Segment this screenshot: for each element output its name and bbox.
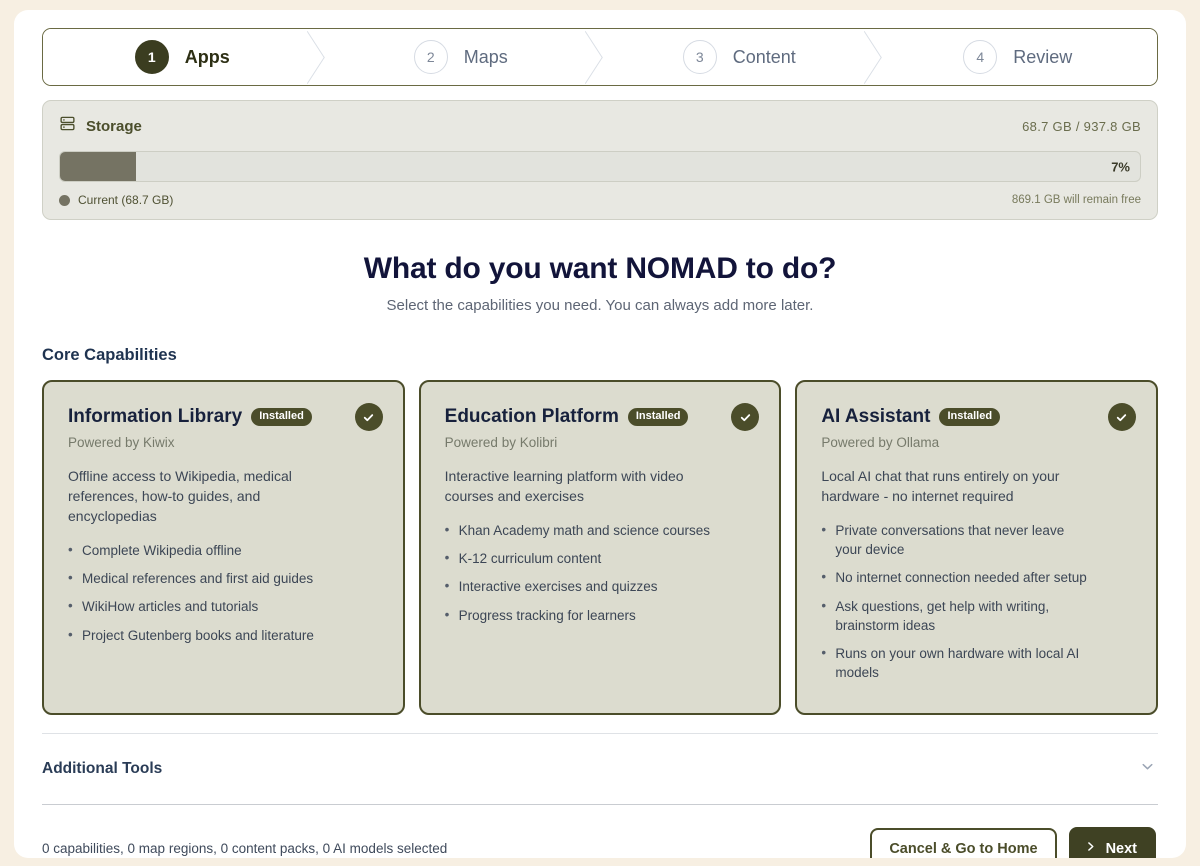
list-item: Complete Wikipedia offline bbox=[68, 541, 340, 560]
step-label: Content bbox=[733, 47, 796, 68]
section-title-core-capabilities: Core Capabilities bbox=[42, 346, 1158, 365]
step-review[interactable]: 4 Review bbox=[879, 29, 1158, 85]
card-powered-by: Powered by Kolibri bbox=[445, 435, 758, 450]
page-title: What do you want NOMAD to do? bbox=[42, 252, 1158, 286]
card-header: AI Assistant Installed bbox=[821, 406, 1134, 428]
legend-current-label: Current (68.7 GB) bbox=[78, 193, 173, 207]
storage-label: Storage bbox=[86, 118, 142, 135]
list-item: Runs on your own hardware with local AI … bbox=[821, 644, 1093, 682]
cancel-button[interactable]: Cancel & Go to Home bbox=[870, 828, 1056, 858]
step-number: 3 bbox=[683, 40, 717, 74]
selected-check-icon[interactable] bbox=[355, 403, 383, 431]
storage-header: Storage 68.7 GB / 937.8 GB bbox=[59, 115, 1141, 137]
storage-legend: Current (68.7 GB) 869.1 GB will remain f… bbox=[59, 193, 1141, 207]
list-item: Progress tracking for learners bbox=[445, 606, 717, 625]
card-feature-list: Complete Wikipedia offline Medical refer… bbox=[68, 541, 381, 645]
list-item: Khan Academy math and science courses bbox=[445, 521, 717, 540]
status-badge: Installed bbox=[628, 408, 689, 426]
step-number: 4 bbox=[963, 40, 997, 74]
list-item: Interactive exercises and quizzes bbox=[445, 577, 717, 596]
card-header: Information Library Installed bbox=[68, 406, 381, 428]
card-description: Interactive learning platform with video… bbox=[445, 466, 725, 506]
storage-progress-fill bbox=[60, 152, 136, 181]
card-powered-by: Powered by Ollama bbox=[821, 435, 1134, 450]
step-number: 2 bbox=[414, 40, 448, 74]
card-header: Education Platform Installed bbox=[445, 406, 758, 428]
capability-card-grid: Information Library Installed Powered by… bbox=[42, 380, 1158, 715]
storage-percent-label: 7% bbox=[1111, 159, 1130, 174]
step-label: Review bbox=[1013, 47, 1072, 68]
additional-tools-label: Additional Tools bbox=[42, 760, 162, 778]
status-badge: Installed bbox=[939, 408, 1000, 426]
step-number: 1 bbox=[135, 40, 169, 74]
additional-tools-accordion[interactable]: Additional Tools bbox=[42, 733, 1158, 804]
wizard-footer: 0 capabilities, 0 map regions, 0 content… bbox=[42, 804, 1158, 858]
step-apps[interactable]: 1 Apps bbox=[43, 29, 322, 85]
card-powered-by: Powered by Kiwix bbox=[68, 435, 381, 450]
card-title: Education Platform bbox=[445, 406, 619, 428]
selection-status: 0 capabilities, 0 map regions, 0 content… bbox=[42, 841, 447, 856]
wizard-stepper: 1 Apps 2 Maps 3 Content 4 Review bbox=[42, 28, 1158, 86]
step-maps[interactable]: 2 Maps bbox=[322, 29, 601, 85]
list-item: Ask questions, get help with writing, br… bbox=[821, 597, 1093, 635]
page-subtitle: Select the capabilities you need. You ca… bbox=[42, 297, 1158, 314]
wizard-window: 1 Apps 2 Maps 3 Content 4 Review bbox=[14, 10, 1186, 858]
next-button-label: Next bbox=[1106, 841, 1137, 857]
card-feature-list: Khan Academy math and science courses K-… bbox=[445, 521, 758, 625]
storage-panel: Storage 68.7 GB / 937.8 GB 7% Current (6… bbox=[42, 100, 1158, 220]
card-feature-list: Private conversations that never leave y… bbox=[821, 521, 1134, 682]
card-title: AI Assistant bbox=[821, 406, 930, 428]
storage-title-group: Storage bbox=[59, 115, 142, 137]
list-item: WikiHow articles and tutorials bbox=[68, 597, 340, 616]
capability-card-information-library[interactable]: Information Library Installed Powered by… bbox=[42, 380, 405, 715]
card-description: Offline access to Wikipedia, medical ref… bbox=[68, 466, 348, 526]
capability-card-ai-assistant[interactable]: AI Assistant Installed Powered by Ollama… bbox=[795, 380, 1158, 715]
list-item: Project Gutenberg books and literature bbox=[68, 626, 340, 645]
list-item: Private conversations that never leave y… bbox=[821, 521, 1093, 559]
chevron-right-icon bbox=[1084, 840, 1097, 857]
step-label: Maps bbox=[464, 47, 508, 68]
storage-remaining-label: 869.1 GB will remain free bbox=[1012, 194, 1141, 206]
list-item: K-12 curriculum content bbox=[445, 549, 717, 568]
list-item: Medical references and first aid guides bbox=[68, 569, 340, 588]
list-item: No internet connection needed after setu… bbox=[821, 568, 1093, 587]
status-badge: Installed bbox=[251, 408, 312, 426]
chevron-down-icon[interactable] bbox=[1139, 758, 1156, 780]
step-content[interactable]: 3 Content bbox=[600, 29, 879, 85]
card-description: Local AI chat that runs entirely on your… bbox=[821, 466, 1101, 506]
storage-progress-bar: 7% bbox=[59, 151, 1141, 182]
legend-swatch-icon bbox=[59, 195, 70, 206]
capability-card-education-platform[interactable]: Education Platform Installed Powered by … bbox=[419, 380, 782, 715]
storage-legend-current: Current (68.7 GB) bbox=[59, 193, 173, 207]
server-icon bbox=[59, 115, 76, 137]
selected-check-icon[interactable] bbox=[1108, 403, 1136, 431]
footer-buttons: Cancel & Go to Home Next bbox=[870, 827, 1156, 858]
card-title: Information Library bbox=[68, 406, 242, 428]
storage-capacity: 68.7 GB / 937.8 GB bbox=[1022, 119, 1141, 134]
step-label: Apps bbox=[185, 47, 230, 68]
next-button[interactable]: Next bbox=[1069, 827, 1156, 858]
